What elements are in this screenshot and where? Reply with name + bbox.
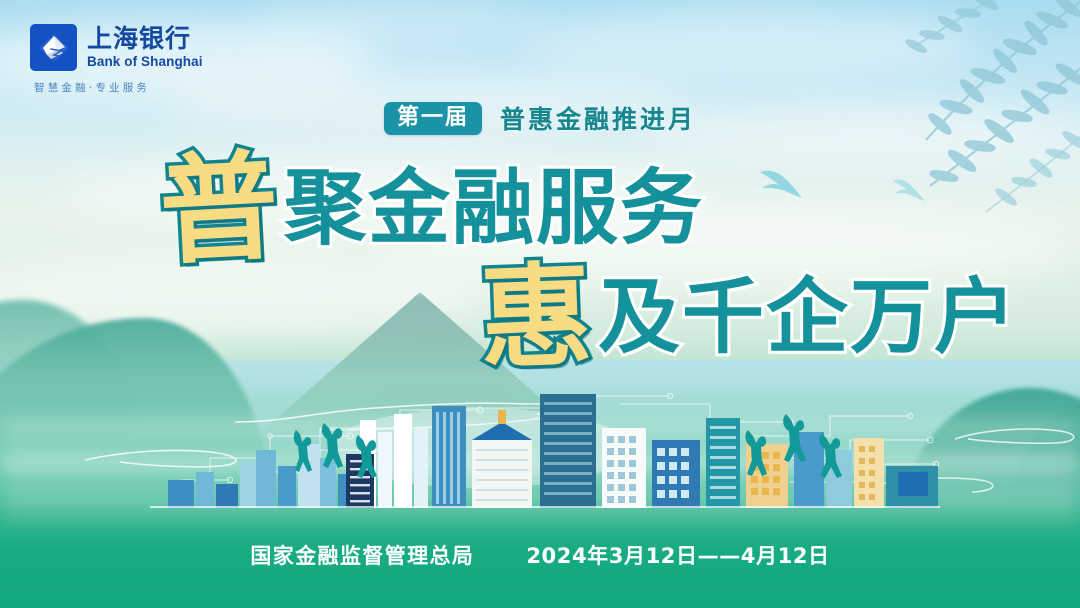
headline-brush-char-2: 惠 xyxy=(478,260,594,376)
cloud-icon xyxy=(250,0,550,46)
headline-line-2: 惠 及千企万户 xyxy=(0,262,1080,374)
event-subtitle-row: 第一届 普惠金融推进月 xyxy=(0,100,1080,136)
headline-brush-char-1: 普 xyxy=(157,147,281,271)
logo-name-cn: 上海银行 xyxy=(87,26,203,51)
mist-band xyxy=(0,508,1080,520)
jumping-people-silhouette-icon xyxy=(290,418,400,488)
promotional-poster: 上海银行 Bank of Shanghai 智慧金融·专业服务 第一届 普惠金融… xyxy=(0,0,1080,608)
event-subtitle: 普惠金融推进月 xyxy=(500,100,696,136)
event-date-range: 2024年3月12日——4月12日 xyxy=(526,540,829,570)
headline-line-1: 普 聚金融服务 xyxy=(0,150,1080,268)
footer: 国家金融监督管理总局 2024年3月12日——4月12日 xyxy=(0,540,1080,570)
logo-slogan: 智慧金融·专业服务 xyxy=(34,80,230,95)
headline-text-1: 聚金融服务 xyxy=(284,168,704,250)
edition-badge: 第一届 xyxy=(384,102,482,135)
organizer-name: 国家金融监督管理总局 xyxy=(250,540,474,570)
headline: 普 聚金融服务 惠 及千企万户 xyxy=(0,150,1080,374)
jumping-people-silhouette-icon xyxy=(740,412,855,488)
bank-logo[interactable]: 上海银行 Bank of Shanghai 智慧金融·专业服务 xyxy=(30,24,230,95)
logo-name-en: Bank of Shanghai xyxy=(87,55,203,69)
headline-text-2: 及千企万户 xyxy=(598,277,1018,359)
bank-of-shanghai-diamond-icon xyxy=(30,24,77,71)
